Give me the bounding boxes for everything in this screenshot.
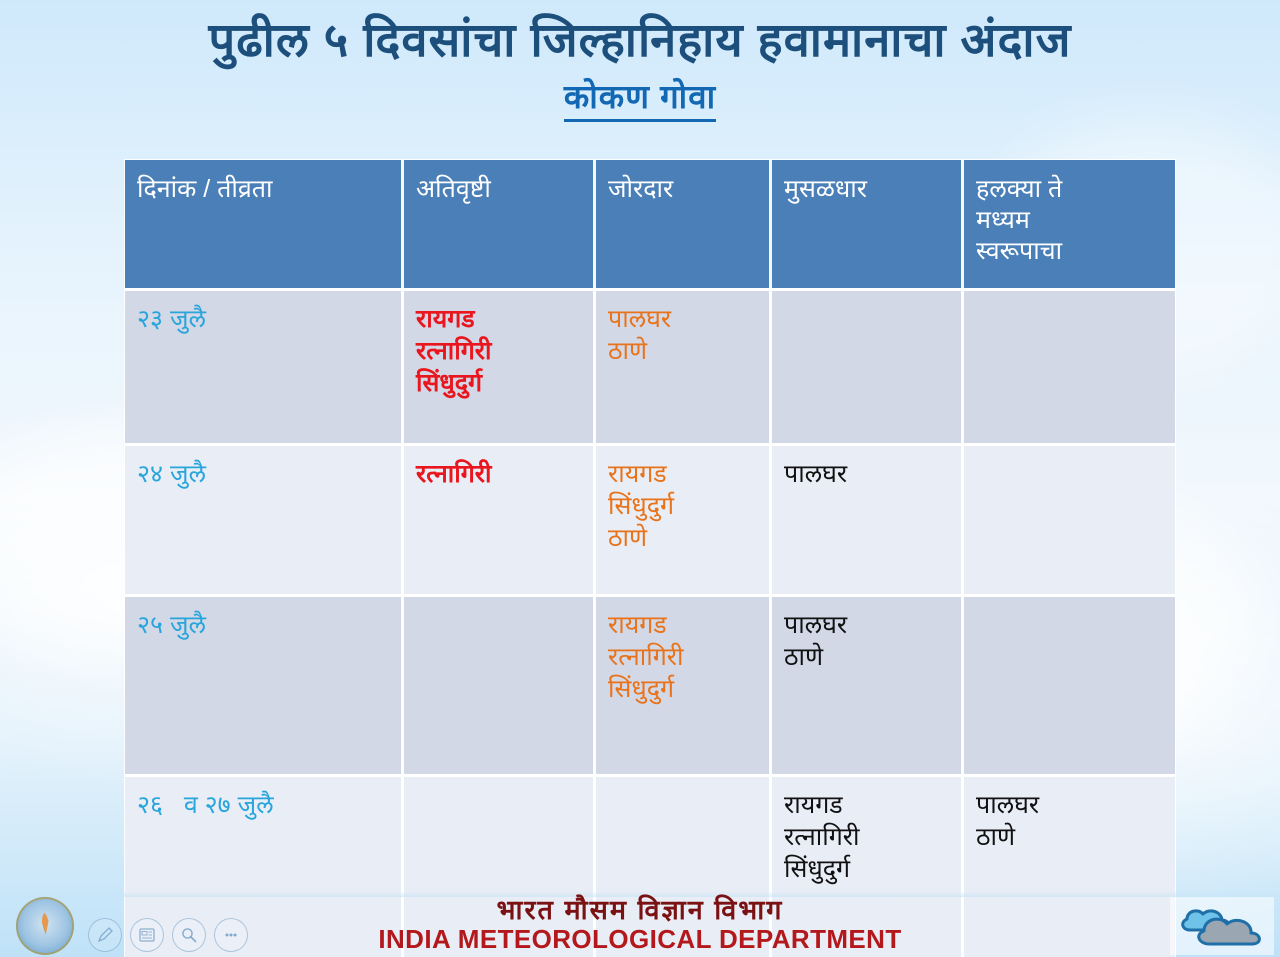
forecast-table: दिनांक / तीव्रता अतिवृष्टी जोरदार मुसळधा… — [125, 160, 1175, 957]
district-name: सिंधुदुर्ग — [784, 853, 951, 885]
table-row: २३ जुलै रायगड रत्नागिरी सिंधुदुर्ग पालघर… — [125, 288, 1175, 443]
slide-grid-icon[interactable] — [130, 918, 164, 952]
district-name: पालघर — [608, 303, 759, 335]
more-options-icon[interactable] — [214, 918, 248, 952]
district-name: रायगड — [784, 789, 951, 821]
column-header-ativrushti: अतिवृष्टी — [404, 160, 596, 288]
page-title: पुढील ५ दिवसांचा जिल्हानिहाय हवामानाचा अ… — [0, 14, 1280, 67]
header-line: हलक्या ते — [976, 174, 1165, 205]
table-row: २४ जुलै रत्नागिरी रायगड सिंधुदुर्ग ठाणे … — [125, 443, 1175, 594]
cell-halkya-te-madhyam — [964, 443, 1175, 594]
cell-ativrushti: रायगड रत्नागिरी सिंधुदुर्ग — [404, 288, 596, 443]
column-header-date-intensity: दिनांक / तीव्रता — [125, 160, 404, 288]
district-name: ठाणे — [976, 821, 1165, 853]
district-name: रायगड — [416, 303, 583, 335]
district-name: ठाणे — [784, 641, 951, 673]
district-name: रायगड — [608, 609, 759, 641]
district-name: रत्नागिरी — [416, 458, 583, 490]
cell-date: २५ जुलै — [125, 594, 404, 774]
pen-icon[interactable] — [88, 918, 122, 952]
cell-ativrushti: रत्नागिरी — [404, 443, 596, 594]
cell-ativrushti — [404, 594, 596, 774]
cell-musaldhar: पालघर ठाणे — [772, 594, 964, 774]
cell-musaldhar: पालघर — [772, 443, 964, 594]
district-name: पालघर — [784, 458, 951, 490]
imd-emblem — [16, 897, 74, 955]
footer: भारत मौसम विज्ञान विभाग INDIA METEOROLOG… — [0, 893, 1280, 957]
table-header-row: दिनांक / तीव्रता अतिवृष्टी जोरदार मुसळधा… — [125, 160, 1175, 288]
column-header-halkya-te-madhyam: हलक्या ते मध्यम स्वरूपाचा — [964, 160, 1175, 288]
district-name: रत्नागिरी — [416, 335, 583, 367]
region-subtitle: कोकण गोवा — [564, 73, 716, 122]
zoom-icon[interactable] — [172, 918, 206, 952]
cell-jordar: रायगड सिंधुदुर्ग ठाणे — [596, 443, 772, 594]
district-name: सिंधुदुर्ग — [608, 673, 759, 705]
title-block: पुढील ५ दिवसांचा जिल्हानिहाय हवामानाचा अ… — [0, 14, 1280, 122]
district-name: रायगड — [608, 458, 759, 490]
header-line: मध्यम — [976, 205, 1165, 236]
cell-jordar: पालघर ठाणे — [596, 288, 772, 443]
district-name: सिंधुदुर्ग — [608, 490, 759, 522]
cell-halkya-te-madhyam — [964, 288, 1175, 443]
cloud-logo — [1170, 897, 1274, 955]
column-header-musaldhar: मुसळधार — [772, 160, 964, 288]
district-name: ठाणे — [608, 335, 759, 367]
cell-musaldhar — [772, 288, 964, 443]
district-name: पालघर — [976, 789, 1165, 821]
column-header-jordar: जोरदार — [596, 160, 772, 288]
cell-date: २४ जुलै — [125, 443, 404, 594]
district-name: सिंधुदुर्ग — [416, 367, 583, 399]
slide-canvas: पुढील ५ दिवसांचा जिल्हानिहाय हवामानाचा अ… — [0, 0, 1280, 957]
subtitle-row: कोकण गोवा — [0, 73, 1280, 122]
district-name: पालघर — [784, 609, 951, 641]
cell-jordar: रायगड रत्नागिरी सिंधुदुर्ग — [596, 594, 772, 774]
table-row: २५ जुलै रायगड रत्नागिरी सिंधुदुर्ग पालघर… — [125, 594, 1175, 774]
header-line: स्वरूपाचा — [976, 236, 1165, 267]
cell-date: २३ जुलै — [125, 288, 404, 443]
district-name: ठाणे — [608, 522, 759, 554]
cell-halkya-te-madhyam — [964, 594, 1175, 774]
district-name: रत्नागिरी — [608, 641, 759, 673]
district-name: रत्नागिरी — [784, 821, 951, 853]
